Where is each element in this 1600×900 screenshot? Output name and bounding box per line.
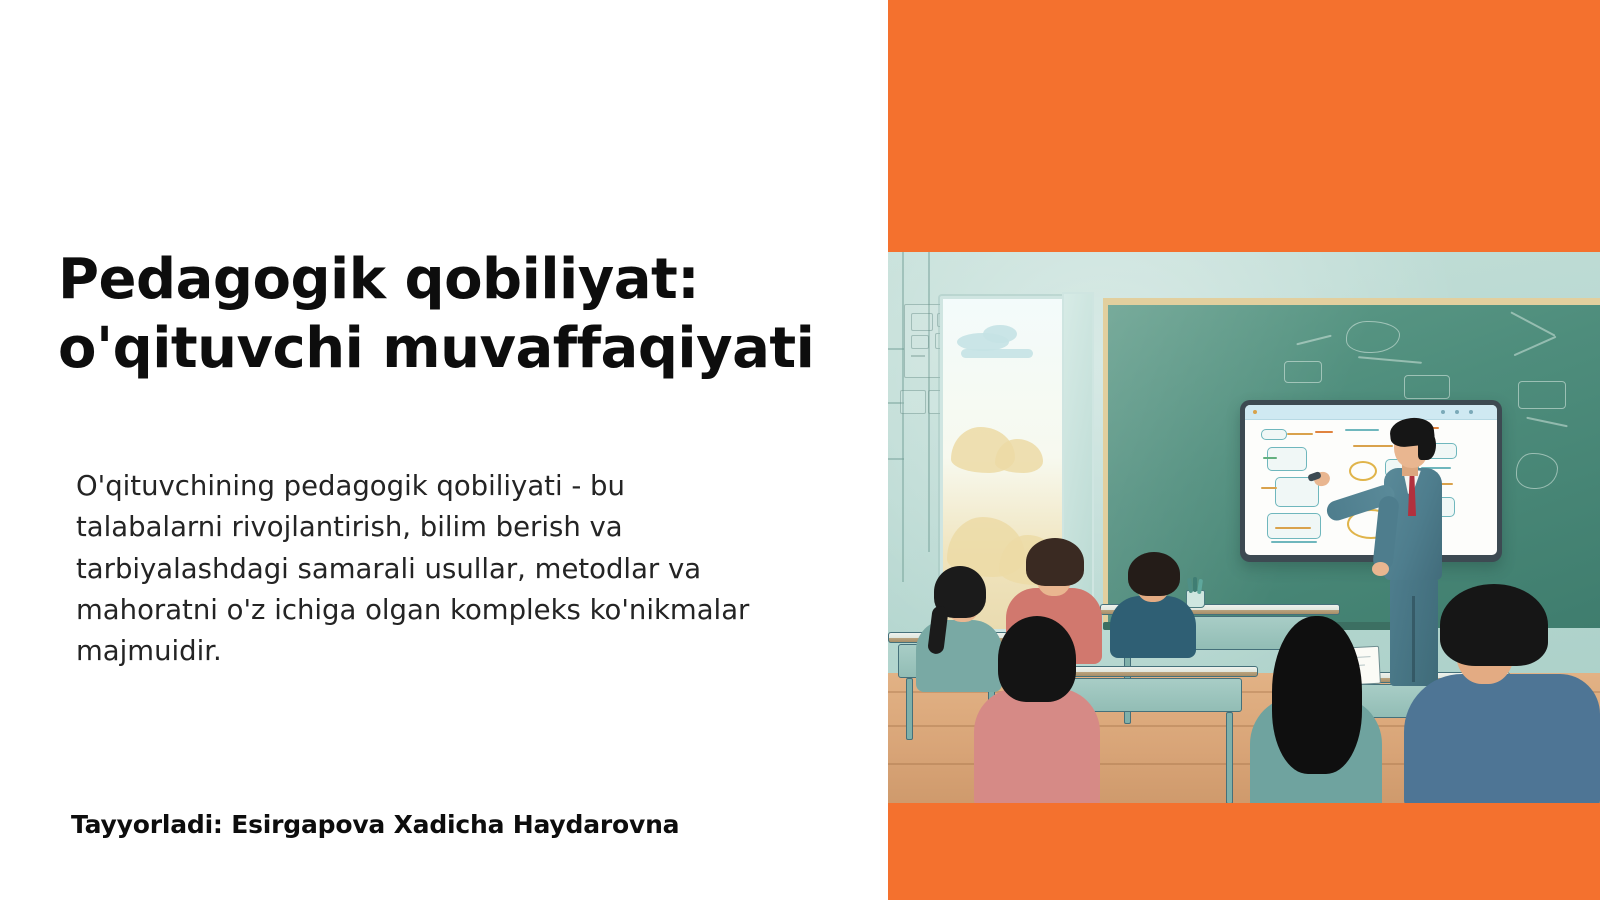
chalk-scribble bbox=[1404, 375, 1450, 399]
slide-root: Pedagogik qobiliyat: o'qituvchi muvaffaq… bbox=[0, 0, 1600, 900]
banner-bottom-band bbox=[888, 803, 1600, 900]
toolbar-dot-icon bbox=[1253, 410, 1257, 414]
chalk-scribble bbox=[1518, 381, 1566, 409]
text-pane: Pedagogik qobiliyat: o'qituvchi muvaffaq… bbox=[0, 0, 888, 900]
teacher-hand bbox=[1372, 562, 1389, 576]
banner-top-band bbox=[888, 0, 1600, 252]
wall-line bbox=[902, 252, 904, 582]
desk-leg bbox=[1226, 712, 1233, 803]
classroom-illustration bbox=[888, 252, 1600, 803]
diagram-connector bbox=[1271, 541, 1317, 543]
student-hair bbox=[1128, 552, 1180, 596]
chalk-scribble bbox=[1511, 311, 1556, 336]
chalk-scribble bbox=[1514, 336, 1557, 356]
student-boy-navy bbox=[1110, 548, 1196, 658]
teacher-hair bbox=[1418, 430, 1436, 460]
cloud-shape bbox=[961, 349, 1033, 358]
student-torso bbox=[1404, 674, 1600, 803]
chalk-scribble bbox=[1526, 417, 1567, 427]
media-pane: UZBBEK CLASSROOM bbox=[888, 0, 1600, 900]
student-hair bbox=[1272, 616, 1362, 774]
student-torso bbox=[1110, 596, 1196, 658]
page-title: Pedagogik qobiliyat: o'qituvchi muvaffaq… bbox=[58, 246, 818, 384]
student-girl-ponytail bbox=[974, 610, 1100, 803]
chalk-scribble bbox=[1516, 453, 1558, 489]
student-boy-blue-jacket bbox=[1404, 578, 1600, 803]
desk-leg bbox=[906, 678, 913, 740]
diagram-node bbox=[1275, 477, 1319, 507]
cloud-shape bbox=[983, 325, 1017, 343]
student-hair bbox=[998, 616, 1076, 702]
student-hair bbox=[1440, 584, 1548, 666]
wall-line bbox=[888, 348, 904, 350]
body-paragraph: O'qituvchining pedagogik qobiliyati - bu… bbox=[76, 466, 766, 672]
diagram-connector bbox=[1287, 433, 1313, 435]
diagram-connector bbox=[1315, 431, 1333, 433]
author-credit: Tayyorladi: Esirgapova Xadicha Haydarovn… bbox=[71, 810, 679, 840]
student-hair bbox=[1026, 538, 1084, 586]
wall-line bbox=[888, 458, 904, 460]
student-girl-longhair bbox=[1250, 612, 1382, 803]
wall-poster bbox=[900, 390, 926, 414]
chalk-scribble bbox=[1284, 361, 1322, 383]
student-torso bbox=[974, 688, 1100, 803]
diagram-node bbox=[1267, 513, 1321, 539]
diagram-node bbox=[1261, 429, 1287, 440]
hill-shape bbox=[995, 439, 1043, 473]
